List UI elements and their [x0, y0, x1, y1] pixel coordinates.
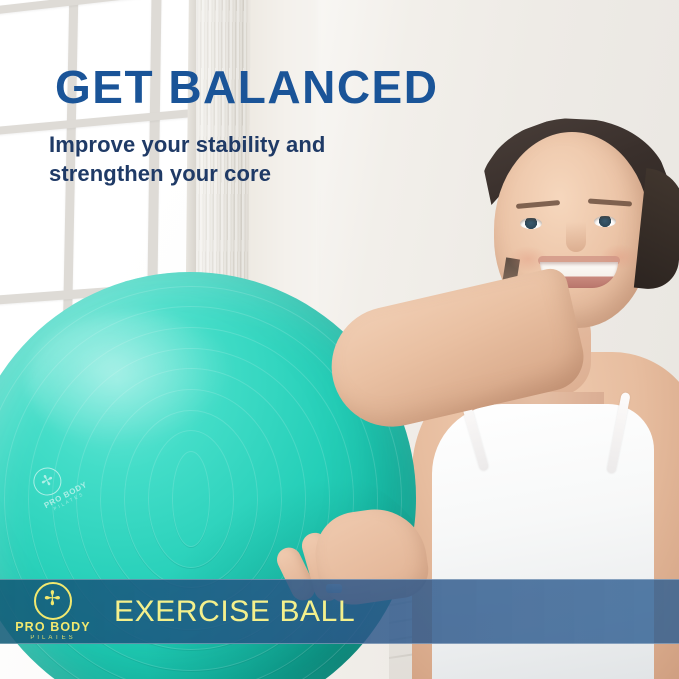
eye-left [520, 218, 542, 229]
pilates-figure-icon: ✢ [44, 589, 61, 609]
product-banner: ✢ PRO BODY PILATES EXERCISE BALL [0, 579, 679, 644]
page-title: GET BALANCED [55, 63, 438, 111]
eye-right [594, 216, 616, 227]
brand-logo-ring: ✢ [34, 582, 72, 620]
nose [566, 222, 586, 252]
brand-logo: ✢ PRO BODY PILATES [0, 582, 106, 642]
product-name: EXERCISE BALL [114, 595, 355, 629]
brand-name: PRO BODY [15, 621, 90, 634]
subtitle: Improve your stability and strengthen yo… [49, 130, 325, 189]
ball-seam-ring [172, 451, 210, 547]
brand-subname: PILATES [30, 635, 75, 641]
product-advertisement-image: ✢ PRO BODY PILATES GET BALANCED Improve … [0, 0, 679, 679]
